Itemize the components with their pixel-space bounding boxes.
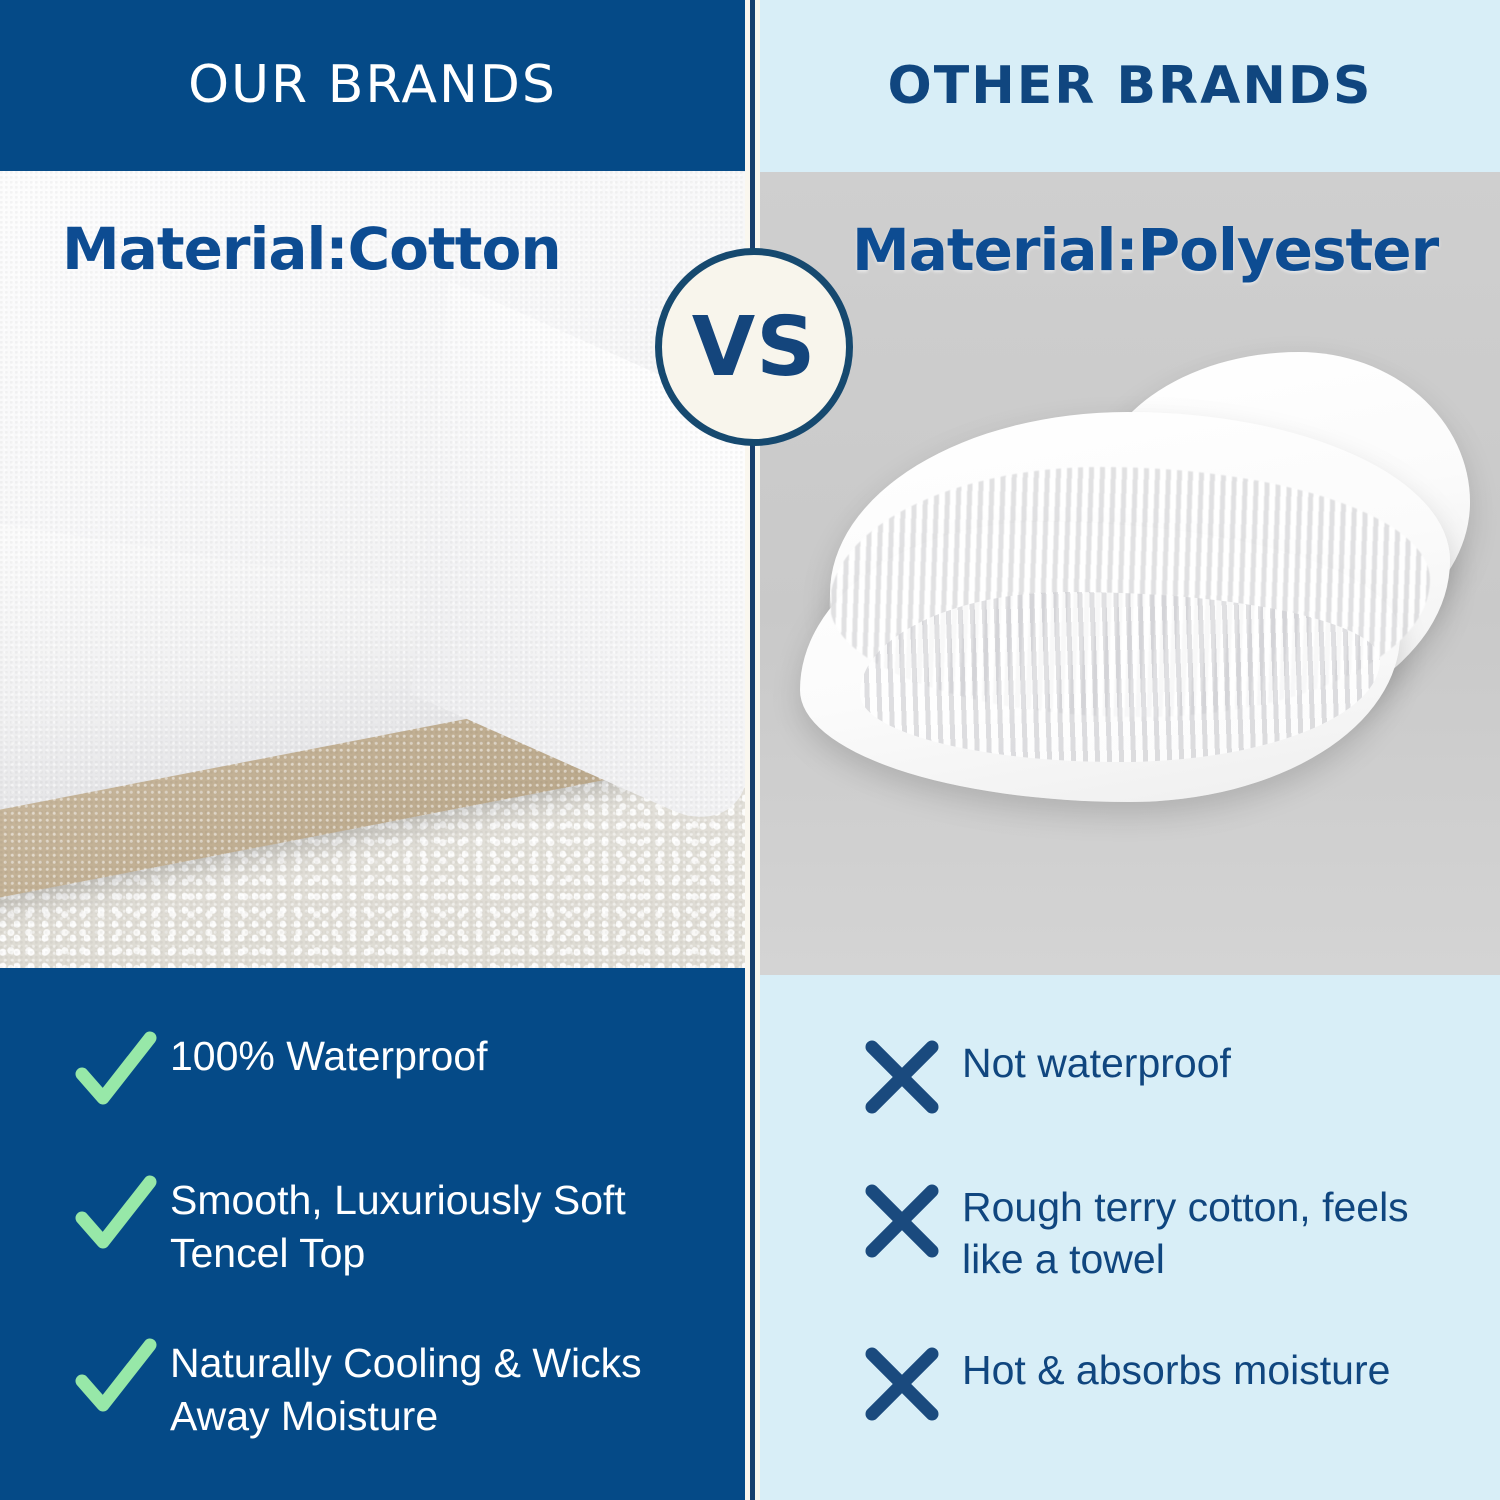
our-brands-column: OUR BRANDS Material:Cotton 100% Waterpro… xyxy=(0,0,745,1500)
list-item: Naturally Cooling & Wicks Away Moisture xyxy=(0,1337,745,1442)
other-brands-column: OTHER BRANDS Material:Polyester Not wate… xyxy=(760,0,1500,1500)
drawback-text: Hot & absorbs moisture xyxy=(948,1344,1390,1396)
column-divider xyxy=(745,0,760,1500)
other-brands-title: OTHER BRANDS xyxy=(888,56,1373,116)
vs-badge: VS xyxy=(655,248,853,446)
list-item: 100% Waterproof xyxy=(0,1030,745,1116)
cross-icon xyxy=(856,1175,948,1267)
other-brands-feature-list: Not waterproof Rough terry cotton, feels… xyxy=(760,975,1500,1500)
feature-text: Smooth, Luxuriously Soft Tencel Top xyxy=(162,1174,682,1279)
vs-badge-label: VS xyxy=(692,300,817,395)
list-item: Smooth, Luxuriously Soft Tencel Top xyxy=(0,1174,745,1279)
folded-fabric-group xyxy=(790,292,1480,852)
list-item: Hot & absorbs moisture xyxy=(760,1344,1500,1430)
drawback-text: Rough terry cotton, feels like a towel xyxy=(948,1181,1418,1286)
list-item: Rough terry cotton, feels like a towel xyxy=(760,1181,1500,1286)
drawback-text: Not waterproof xyxy=(948,1037,1231,1089)
other-brands-photo: Material:Polyester xyxy=(760,172,1500,975)
check-icon xyxy=(70,1024,162,1116)
feature-text: 100% Waterproof xyxy=(162,1030,488,1082)
our-brands-photo: Material:Cotton xyxy=(0,171,745,968)
material-label-cotton: Material:Cotton xyxy=(62,215,561,283)
other-brands-header: OTHER BRANDS xyxy=(760,0,1500,172)
check-icon xyxy=(70,1168,162,1260)
list-item: Not waterproof xyxy=(760,1037,1500,1123)
cross-icon xyxy=(856,1338,948,1430)
our-brands-title: OUR BRANDS xyxy=(188,55,557,115)
comparison-board: OUR BRANDS Material:Cotton 100% Waterpro… xyxy=(0,0,1500,1500)
cross-icon xyxy=(856,1031,948,1123)
feature-text: Naturally Cooling & Wicks Away Moisture xyxy=(162,1337,682,1442)
our-brands-header: OUR BRANDS xyxy=(0,0,745,171)
our-brands-feature-list: 100% Waterproof Smooth, Luxuriously Soft… xyxy=(0,968,745,1500)
material-label-polyester: Material:Polyester xyxy=(852,216,1438,284)
check-icon xyxy=(70,1331,162,1423)
